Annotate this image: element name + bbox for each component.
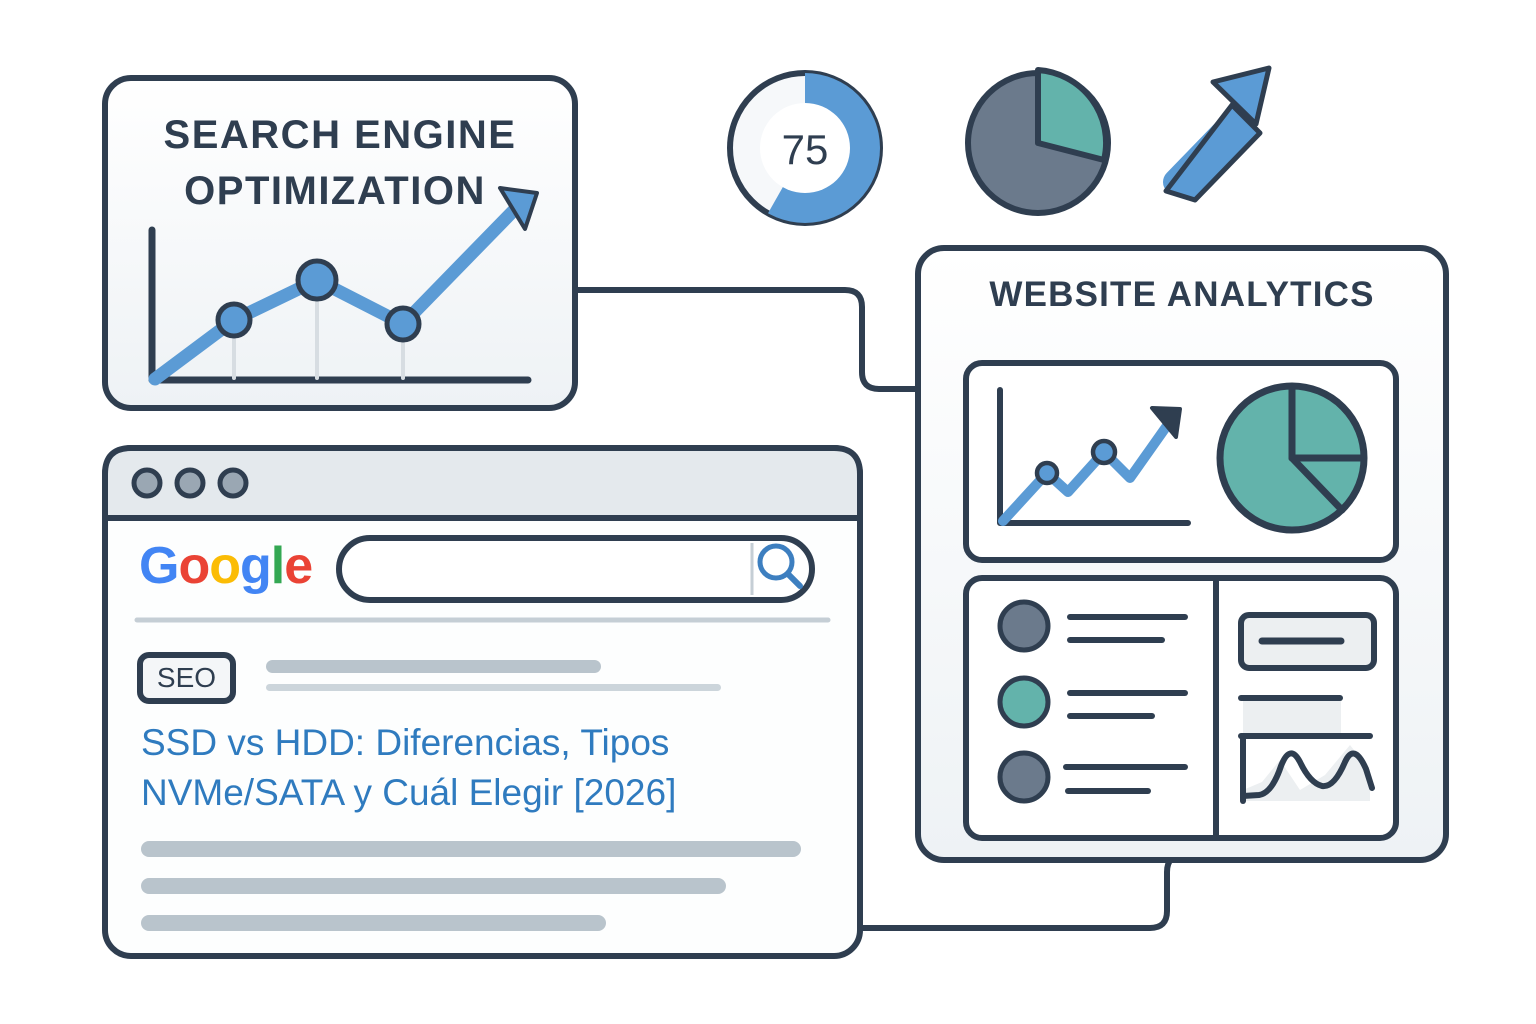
result-title-line-2: NVMe/SATA y Cuál Elegir [2026] — [141, 768, 831, 818]
stat-card[interactable] — [1241, 615, 1374, 668]
browser-window-controls[interactable] — [134, 470, 246, 496]
status-badge-label: SEO — [140, 655, 233, 701]
google-logo: Google — [139, 540, 312, 592]
meta-line — [266, 660, 601, 673]
google-logo-letter-g: G — [139, 537, 178, 595]
analytics-pie-chart — [1220, 386, 1364, 530]
score-gauge[interactable]: 75 — [727, 70, 883, 226]
analytics-title: WEBSITE ANALYTICS — [989, 275, 1374, 314]
result-title-line-1: SSD vs HDD: Diferencias, Tipos — [141, 718, 831, 768]
website-analytics-panel[interactable]: WEBSITE ANALYTICS — [918, 248, 1446, 860]
seo-title-line-1: SEARCH ENGINE — [164, 113, 517, 157]
snippet-line — [141, 915, 606, 931]
google-logo-letter-o1: o — [178, 537, 209, 595]
arrow-shaft — [1166, 105, 1260, 200]
google-logo-letter-e: e — [284, 537, 312, 595]
avatar — [1000, 753, 1048, 801]
result-title[interactable]: SSD vs HDD: Diferencias, Tipos NVMe/SATA… — [141, 718, 831, 819]
google-logo-letter-o2: o — [209, 537, 240, 595]
window-dot-minimize[interactable] — [177, 470, 203, 496]
illustration-canvas: SEARCH ENGINE OPTIMIZATION — [0, 0, 1536, 1024]
gauge-value: 75 — [782, 126, 829, 173]
seo-chart-marker — [387, 308, 419, 340]
seo-chart-marker — [218, 304, 250, 336]
window-dot-close[interactable] — [134, 470, 160, 496]
meta-line — [266, 684, 721, 691]
trend-up-arrow — [1166, 68, 1269, 200]
snippet-line — [141, 841, 801, 857]
google-logo-letter-g2: g — [240, 537, 271, 595]
main-art-layer: SEARCH ENGINE OPTIMIZATION — [0, 0, 1536, 1024]
seo-title-line-2: OPTIMIZATION — [184, 169, 486, 213]
seo-chart-marker — [298, 261, 336, 299]
avatar — [1000, 678, 1048, 726]
mini-pie-chart[interactable] — [968, 70, 1108, 213]
mini-pie-slice-b — [1038, 70, 1106, 160]
avatar — [1000, 602, 1048, 650]
bar-row-fill — [1243, 700, 1341, 735]
search-engine-optimization-card[interactable]: SEARCH ENGINE OPTIMIZATION — [105, 78, 575, 408]
google-logo-letter-l: l — [271, 537, 284, 595]
google-search-browser-window[interactable] — [105, 448, 860, 956]
line-chart-marker — [1093, 441, 1115, 463]
search-input-frame[interactable] — [339, 538, 812, 600]
window-dot-maximize[interactable] — [220, 470, 246, 496]
line-chart-marker — [1037, 463, 1057, 483]
search-input[interactable] — [339, 538, 812, 600]
analytics-top-widget[interactable] — [966, 363, 1396, 560]
analytics-bottom-widget[interactable] — [966, 578, 1396, 838]
snippet-line — [141, 878, 726, 894]
